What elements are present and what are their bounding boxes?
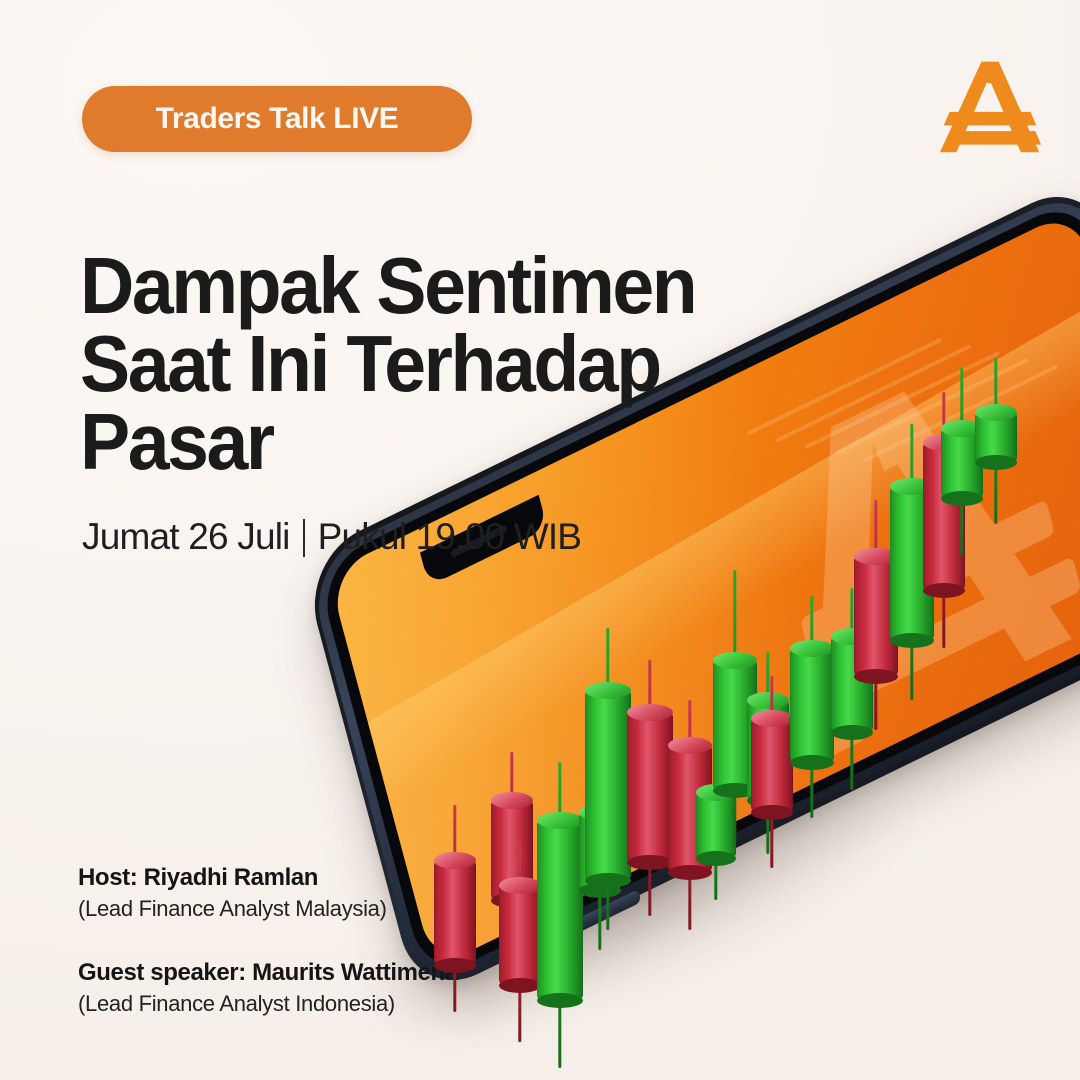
guest-name: Guest speaker: Maurits Wattimena xyxy=(78,959,548,987)
headline-line-2: Saat Ini Terhadap xyxy=(80,325,794,403)
brand-a-logo-icon xyxy=(938,56,1044,160)
headline-line-3: Pasar xyxy=(80,403,794,481)
headline-line-1: Dampak Sentimen xyxy=(80,247,794,325)
promo-poster: Traders Talk LIVE Dampak Sentimen Saat I… xyxy=(0,0,1080,1080)
guest-role: (Lead Finance Analyst Indonesia) xyxy=(78,990,548,1018)
host-role: (Lead Finance Analyst Malaysia) xyxy=(78,895,548,923)
host-name: Host: Riyadhi Ramlan xyxy=(78,864,548,892)
live-badge-label: Traders Talk LIVE xyxy=(156,102,399,136)
event-date: Jumat 26 Juli xyxy=(82,516,290,558)
credits-spacer xyxy=(78,923,548,959)
event-schedule: Jumat 26 Juli Pukul 19.00 WIB xyxy=(82,516,581,558)
schedule-separator xyxy=(303,519,305,557)
event-time: Pukul 19.00 WIB xyxy=(318,516,582,558)
page-title: Dampak Sentimen Saat Ini Terhadap Pasar xyxy=(80,247,794,482)
speaker-credits: Host: Riyadhi Ramlan (Lead Finance Analy… xyxy=(78,864,548,1018)
live-badge[interactable]: Traders Talk LIVE xyxy=(82,86,472,152)
